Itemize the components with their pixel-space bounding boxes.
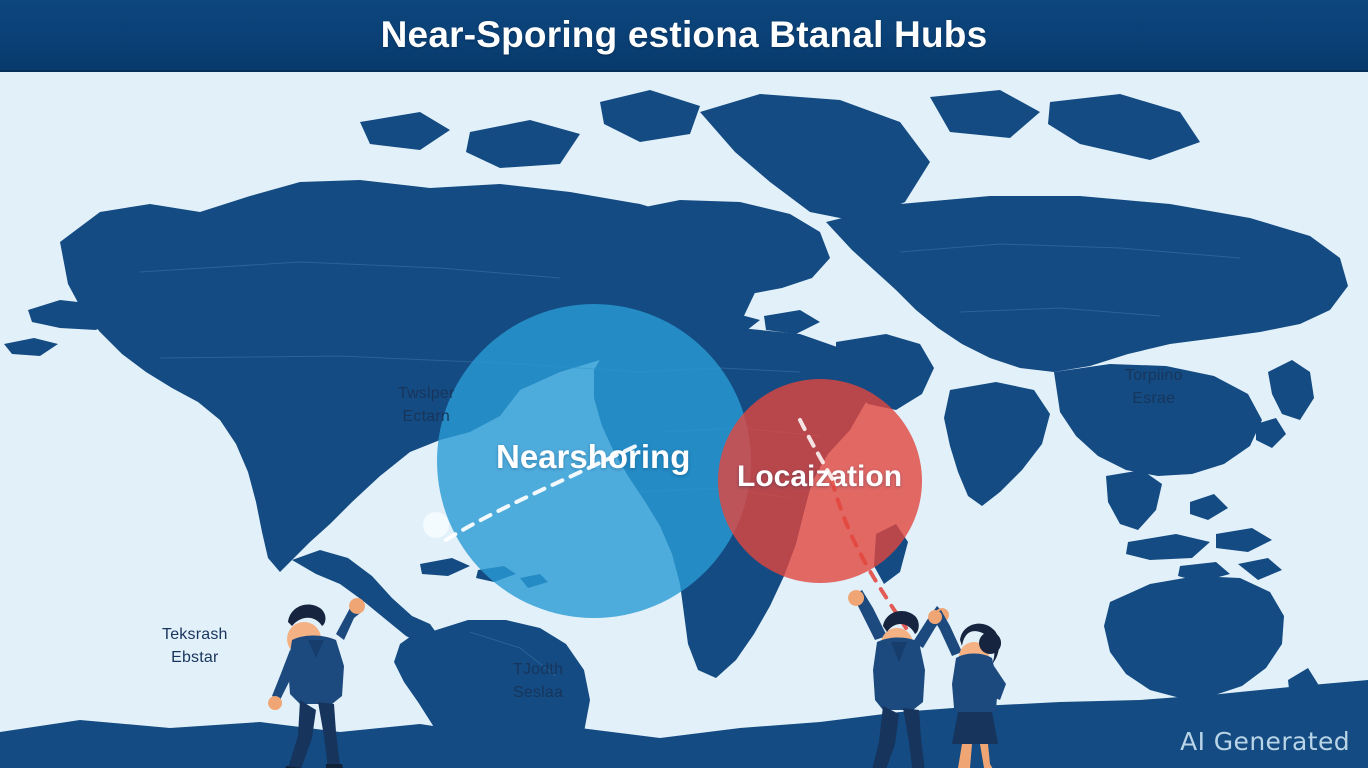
map-note-southwest-line1: Teksrash [162, 623, 228, 646]
header-bar: Near-Sporing estiona Btanal Hubs [0, 0, 1368, 72]
map-note-southcentral: TJodth Seslaa [513, 658, 563, 704]
map-note-west-line2: Ectarn [398, 405, 455, 428]
map-note-southcentral-line2: Seslaa [513, 681, 563, 704]
map-note-northeast: Torpiino Esrae [1125, 364, 1183, 410]
map-note-west-line1: Twslper [398, 382, 455, 405]
map-note-southwest: Teksrash Ebstar [162, 623, 228, 669]
nearshoring-zone-circle[interactable] [437, 304, 751, 618]
world-map-area: .land { fill: #134b82; } .border { fill:… [0, 72, 1368, 768]
page-title: Near-Sporing estiona Btanal Hubs [381, 14, 988, 56]
map-note-southcentral-line1: TJodth [513, 658, 563, 681]
infographic-canvas: Near-Sporing estiona Btanal Hubs .land {… [0, 0, 1368, 768]
map-note-west: Twslper Ectarn [398, 382, 455, 428]
ai-generated-watermark: AI Generated [1180, 727, 1350, 756]
map-note-northeast-line2: Esrae [1125, 387, 1183, 410]
localization-zone-circle[interactable] [718, 379, 922, 583]
map-note-northeast-line1: Torpiino [1125, 364, 1183, 387]
map-note-southwest-line2: Ebstar [162, 646, 228, 669]
